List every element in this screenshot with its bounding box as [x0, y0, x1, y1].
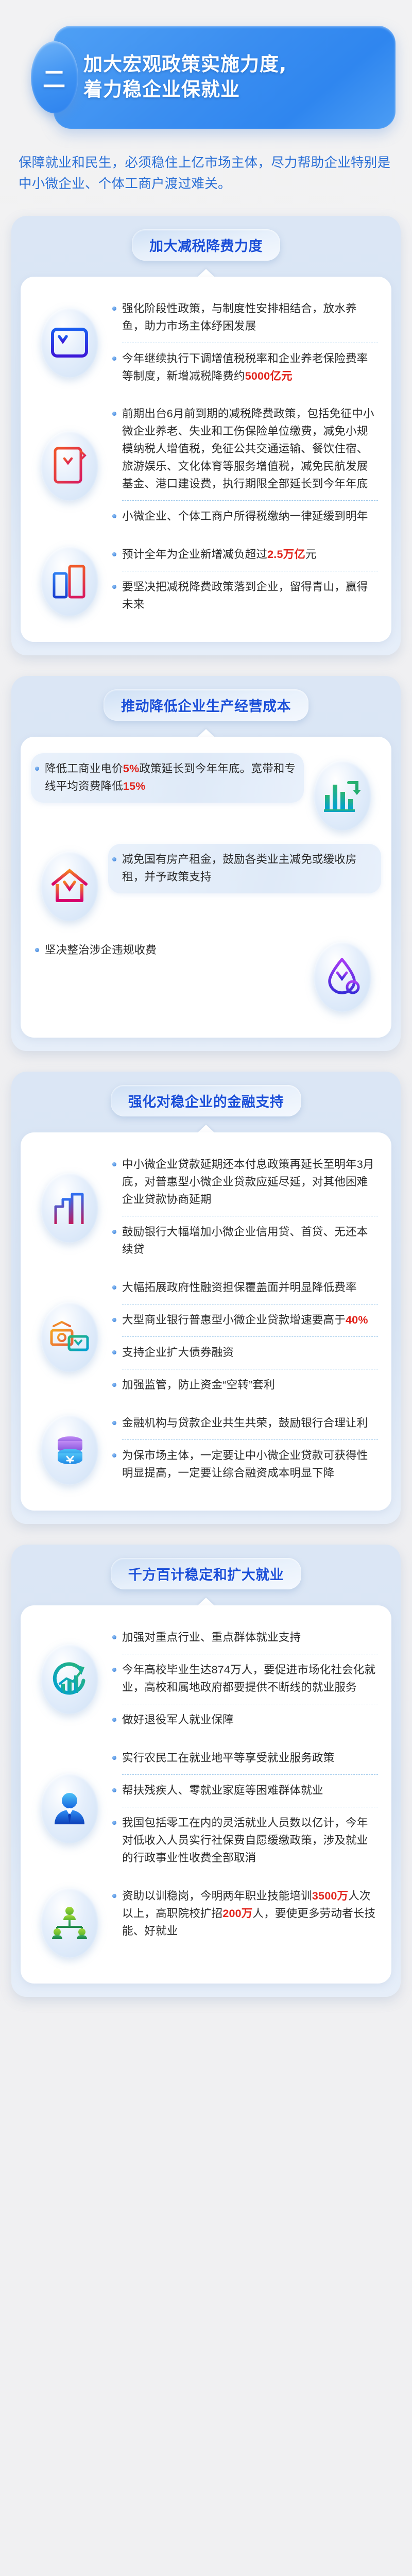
- list-item: 坚决整治涉企违规收费: [34, 937, 301, 964]
- training-network-icon: [41, 1888, 98, 1958]
- highlight-value: 3500万: [312, 1890, 348, 1902]
- list-item-text: 中小微企业贷款延期还本付息政策再延长至明年3月底，对普惠型小微企业贷款应延尽延，…: [122, 1156, 378, 1209]
- plain-text: 大幅拓展政府性融资担保覆盖面并明显降低费率: [122, 1281, 357, 1294]
- list-item: 帮扶残疾人、零就业家庭等困难群体就业: [111, 1777, 378, 1805]
- list-item-text: 金融机构与贷款企业共生共荣，鼓励银行合理让利: [122, 1415, 378, 1432]
- bullet-dot-icon: [112, 1821, 116, 1825]
- bullet-dot-icon: [112, 1230, 116, 1234]
- money-exchange-icon: [41, 1302, 98, 1372]
- bullet-dot-icon: [112, 857, 116, 861]
- bullet-list: 金融机构与贷款企业共生共荣，鼓励银行合理让利为保市场主体，一定要让中小微企业贷款…: [108, 1408, 381, 1489]
- bullet-divider: [122, 1439, 378, 1440]
- bullet-list: 降低工商业电价5%政策延长到今年年底。宽带和专线平均资费降低15%: [31, 753, 304, 803]
- highlight-value: 40%: [346, 1314, 368, 1326]
- list-item: 金融机构与贷款企业共生共荣，鼓励银行合理让利: [111, 1410, 378, 1437]
- list-item-text: 预计全年为企业新增减负超过2.5万亿元: [122, 546, 378, 564]
- bullet-divider: [122, 1216, 378, 1216]
- content-row: 预计全年为企业新增减负超过2.5万亿元要坚决把减税降费政策落到企业，留得青山，赢…: [31, 536, 381, 626]
- list-item-text: 资助以训稳岗，今明两年职业技能培训3500万人次以上，高职院校扩招200万人，要…: [122, 1888, 378, 1940]
- list-item-text: 帮扶残疾人、零就业家庭等困难群体就业: [122, 1782, 378, 1800]
- plain-text: 资助以训稳岗，今明两年职业技能培训: [122, 1890, 312, 1902]
- list-item: 预计全年为企业新增减负超过2.5万亿元: [111, 541, 378, 569]
- list-item: 今年高校毕业生达874万人，要促进市场化社会化就业，高校和属地政府都要提供不断线…: [111, 1656, 378, 1702]
- bullet-list: 资助以训稳岗，今明两年职业技能培训3500万人次以上，高职院校扩招200万人，要…: [108, 1880, 381, 1947]
- bullet-divider: [122, 1654, 378, 1654]
- bullet-dot-icon: [112, 1453, 116, 1458]
- fee-drop-icon: [314, 942, 371, 1012]
- content-row: 资助以训稳岗，今明两年职业技能培训3500万人次以上，高职院校扩招200万人，要…: [31, 1877, 381, 1968]
- list-item: 减免国有房产租金，鼓励各类业主减免或缓收房租，并予政策支持: [111, 846, 378, 891]
- list-item-text: 小微企业、个体工商户所得税缴纳一律延缓到明年: [122, 508, 378, 526]
- icon-container: [31, 539, 108, 623]
- list-item: 大型商业银行普惠型小微企业贷款增速要高于40%: [111, 1307, 378, 1334]
- icon-container: [31, 1766, 108, 1851]
- plain-text: 支持企业扩大债券融资: [122, 1346, 234, 1359]
- list-item: 降低工商业电价5%政策延长到今年年底。宽带和专线平均资费降低15%: [34, 755, 301, 801]
- highlight-value: 5000亿元: [245, 370, 293, 382]
- icon-container: [304, 753, 381, 838]
- list-item: 鼓励银行大幅增加小微企业信用贷、首贷、无还本续贷: [111, 1218, 378, 1264]
- plain-text: 做好退役军人就业保障: [122, 1714, 234, 1726]
- highlight-value: 5%: [123, 762, 139, 775]
- section-title: 加大减税降费力度: [132, 229, 280, 261]
- page-title-line1: 加大宏观政策实施力度,: [83, 52, 287, 77]
- policy-section: 强化对稳企业的金融支持 中小微企业贷款延期还本付息政策再延长至明年3月底，对普惠…: [11, 1072, 401, 1524]
- bullet-divider: [122, 500, 378, 501]
- buildings-icon: [41, 546, 98, 616]
- list-item: 资助以训稳岗，今明两年职业技能培训3500万人次以上，高职院校扩招200万人，要…: [111, 1883, 378, 1945]
- highlight-value: 2.5万亿: [267, 548, 305, 561]
- section-title: 强化对稳企业的金融支持: [111, 1085, 302, 1116]
- list-item-text: 鼓励银行大幅增加小微企业信用贷、首贷、无还本续贷: [122, 1224, 378, 1259]
- plain-text: 加强对重点行业、重点群体就业支持: [122, 1631, 301, 1643]
- bullet-dot-icon: [35, 948, 39, 952]
- section-title: 推动降低企业生产经营成本: [104, 689, 308, 721]
- bullet-list: 加强对重点行业、重点群体就业支持今年高校毕业生达874万人，要促进市场化社会化就…: [108, 1622, 381, 1736]
- bullet-list: 坚决整治涉企违规收费: [31, 935, 304, 967]
- list-item: 小微企业、个体工商户所得税缴纳一律延缓到明年: [111, 503, 378, 531]
- list-item-text: 要坚决把减税降费政策落到企业，留得青山，赢得未来: [122, 579, 378, 614]
- list-item-text: 加强监管，防止资金“空转”套利: [122, 1377, 378, 1394]
- bullet-dot-icon: [112, 1788, 116, 1792]
- page-title-line2: 着力稳企业保就业: [83, 77, 287, 103]
- bullet-divider: [122, 1336, 378, 1337]
- bullet-dot-icon: [112, 307, 116, 311]
- icon-container: [31, 1637, 108, 1721]
- infographic-page: 加大宏观政策实施力度, 着力稳企业保就业 二 保障就业和民生，必须稳住上亿市场主…: [0, 0, 412, 2576]
- list-item: 加强对重点行业、重点群体就业支持: [111, 1624, 378, 1652]
- bullet-dot-icon: [112, 1350, 116, 1354]
- plain-text: 前期出台6月前到期的减税降费政策，包括免征中小微企业养老、失业和工伤保险单位缴费…: [122, 408, 374, 490]
- card-notch: [197, 1125, 215, 1133]
- list-item-text: 加强对重点行业、重点群体就业支持: [122, 1629, 378, 1647]
- plain-text: 加强监管，防止资金“空转”套利: [122, 1379, 275, 1391]
- section-title: 千方百计稳定和扩大就业: [111, 1558, 302, 1589]
- page-header: 加大宏观政策实施力度, 着力稳企业保就业 二: [11, 14, 401, 143]
- plain-text: 鼓励银行大幅增加小微企业信用贷、首贷、无还本续贷: [122, 1226, 368, 1256]
- list-item-text: 减免国有房产租金，鼓励各类业主减免或缓收房租，并予政策支持: [122, 851, 378, 886]
- list-item-text: 实行农民工在就业地平等享受就业服务政策: [122, 1750, 378, 1767]
- house-rent-icon: [41, 851, 98, 921]
- bullet-dot-icon: [112, 585, 116, 589]
- plain-text: 金融机构与贷款企业共生共荣，鼓励银行合理让利: [122, 1417, 368, 1429]
- plain-text: 为保市场主体，一定要让中小微企业贷款可获得性明显提高，一定要让综合融资成本明显下…: [122, 1449, 368, 1479]
- list-item: 我国包括零工在内的灵活就业人员数以亿计，今年对低收入人员实行社保费自愿缓缴政策，…: [111, 1809, 378, 1872]
- bullet-list: 前期出台6月前到期的减税降费政策，包括免征中小微企业养老、失业和工伤保险单位缴费…: [108, 398, 381, 533]
- worker-person-icon: [41, 1773, 98, 1843]
- content-row: 大幅拓展政府性融资担保覆盖面并明显降低费率大型商业银行普惠型小微企业贷款增速要高…: [31, 1269, 381, 1404]
- lede-paragraph: 保障就业和民生，必须稳住上亿市场主体，尽力帮助企业特别是中小微企业、个体工商户渡…: [19, 152, 393, 195]
- policy-section: 推动降低企业生产经营成本 降低工商业电价5%政策延长到今年年底。宽带和专线平均资…: [11, 676, 401, 1051]
- section-number-badge: 二: [31, 41, 78, 113]
- plain-text: 小微企业、个体工商户所得税缴纳一律延缓到明年: [122, 510, 368, 522]
- section-number-label: 二: [43, 61, 66, 94]
- content-row: 强化阶段性政策，与制度性安排相结合，放水养鱼，助力市场主体纾困发展今年继续执行下…: [31, 290, 381, 396]
- tax-document-icon: [41, 431, 98, 501]
- list-item-text: 大型商业银行普惠型小微企业贷款增速要高于40%: [122, 1312, 378, 1329]
- declining-bar-chart-icon: [314, 760, 371, 831]
- list-item-text: 为保市场主体，一定要让中小微企业贷款可获得性明显提高，一定要让综合融资成本明显下…: [122, 1447, 378, 1482]
- plain-text: 大型商业银行普惠型小微企业贷款增速要高于: [122, 1314, 346, 1326]
- icon-container: [304, 935, 381, 1019]
- coin-stack-icon: [41, 1415, 98, 1485]
- bullet-dot-icon: [112, 1285, 116, 1290]
- list-item: 今年继续执行下调增值税税率和企业养老保险费率等制度，新增减税降费约5000亿元: [111, 345, 378, 391]
- card-notch: [197, 269, 215, 277]
- bullet-divider: [122, 343, 378, 343]
- content-row: 中小微企业贷款延期还本付息政策再延长至明年3月底，对普惠型小微企业贷款应延尽延，…: [31, 1146, 381, 1269]
- list-item: 大幅拓展政府性融资担保覆盖面并明显降低费率: [111, 1274, 378, 1302]
- bullet-dot-icon: [112, 412, 116, 416]
- icon-container: [31, 423, 108, 508]
- bullet-divider: [122, 571, 378, 571]
- list-item-text: 今年高校毕业生达874万人，要促进市场化社会化就业，高校和属地政府都要提供不断线…: [122, 1662, 378, 1697]
- bullet-divider: [122, 1704, 378, 1704]
- highlight-value: 200万: [222, 1907, 252, 1920]
- list-item-text: 降低工商业电价5%政策延长到今年年底。宽带和专线平均资费降低15%: [45, 760, 301, 795]
- bullet-dot-icon: [112, 1421, 116, 1425]
- list-item: 支持企业扩大债券融资: [111, 1339, 378, 1367]
- list-item: 前期出台6月前到期的减税降费政策，包括免征中小微企业养老、失业和工伤保险单位缴费…: [111, 400, 378, 498]
- bullet-list: 强化阶段性政策，与制度性安排相结合，放水养鱼，助力市场主体纾困发展今年继续执行下…: [108, 293, 381, 393]
- bullet-dot-icon: [112, 1894, 116, 1898]
- list-item-text: 我国包括零工在内的灵活就业人员数以亿计，今年对低收入人员实行社保费自愿缓缴政策，…: [122, 1815, 378, 1867]
- list-item-text: 今年继续执行下调增值税税率和企业养老保险费率等制度，新增减税降费约5000亿元: [122, 350, 378, 385]
- section-card: 强化阶段性政策，与制度性安排相结合，放水养鱼，助力市场主体纾困发展今年继续执行下…: [21, 277, 391, 642]
- card-notch: [197, 729, 215, 737]
- bullet-dot-icon: [112, 514, 116, 518]
- plain-text: 强化阶段性政策，与制度性安排相结合，放水养鱼，助力市场主体纾困发展: [122, 302, 357, 332]
- bullet-list: 实行农民工在就业地平等享受就业服务政策帮扶残疾人、零就业家庭等困难群体就业我国包…: [108, 1742, 381, 1874]
- icon-container: [31, 844, 108, 928]
- icon-container: [31, 300, 108, 385]
- bullet-list: 预计全年为企业新增减负超过2.5万亿元要坚决把减税降费政策落到企业，留得青山，赢…: [108, 539, 381, 621]
- content-row: 加强对重点行业、重点群体就业支持今年高校毕业生达874万人，要促进市场化社会化就…: [31, 1619, 381, 1739]
- sections-container: 加大减税降费力度 强化阶段性政策，与制度性安排相结合，放水养鱼，助力市场主体纾困…: [0, 216, 412, 1997]
- content-row: 实行农民工在就业地平等享受就业服务政策帮扶残疾人、零就业家庭等困难群体就业我国包…: [31, 1739, 381, 1877]
- bullet-dot-icon: [112, 1756, 116, 1760]
- plain-text: 帮扶残疾人、零就业家庭等困难群体就业: [122, 1784, 323, 1797]
- content-row: 金融机构与贷款企业共生共荣，鼓励银行合理让利为保市场主体，一定要让中小微企业贷款…: [31, 1404, 381, 1495]
- growth-chart-icon: [41, 1644, 98, 1714]
- icon-container: [31, 1165, 108, 1250]
- plain-text: 元: [305, 548, 317, 561]
- bullet-divider: [122, 1304, 378, 1304]
- bullet-dot-icon: [112, 1635, 116, 1639]
- plain-text: 减免国有房产租金，鼓励各类业主减免或缓收房租，并予政策支持: [122, 853, 357, 883]
- content-row: 前期出台6月前到期的减税降费政策，包括免征中小微企业养老、失业和工伤保险单位缴费…: [31, 395, 381, 536]
- list-item: 中小微企业贷款延期还本付息政策再延长至明年3月底，对普惠型小微企业贷款应延尽延，…: [111, 1151, 378, 1214]
- list-item-text: 大幅拓展政府性融资担保覆盖面并明显降低费率: [122, 1279, 378, 1297]
- plain-text: 要坚决把减税降费政策落到企业，留得青山，赢得未来: [122, 581, 368, 611]
- list-item-text: 前期出台6月前到期的减税降费政策，包括免征中小微企业养老、失业和工伤保险单位缴费…: [122, 405, 378, 493]
- content-row: 减免国有房产租金，鼓励各类业主减免或缓收房租，并予政策支持: [31, 841, 381, 931]
- plain-text: 今年高校毕业生达874万人，要促进市场化社会化就业，高校和属地政府都要提供不断线…: [122, 1664, 375, 1693]
- bullet-divider: [122, 1774, 378, 1775]
- plain-text: 预计全年为企业新增减负超过: [122, 548, 267, 561]
- bullet-dot-icon: [112, 1162, 116, 1166]
- bullet-dot-icon: [112, 1383, 116, 1387]
- bullet-dot-icon: [112, 1668, 116, 1672]
- list-item-text: 坚决整治涉企违规收费: [45, 942, 301, 959]
- list-item: 要坚决把减税降费政策落到企业，留得青山，赢得未来: [111, 573, 378, 619]
- bank-buildings-icon: [41, 1173, 98, 1243]
- list-item-text: 强化阶段性政策，与制度性安排相结合，放水养鱼，助力市场主体纾困发展: [122, 300, 378, 335]
- bullet-list: 大幅拓展政府性融资担保覆盖面并明显降低费率大型商业银行普惠型小微企业贷款增速要高…: [108, 1272, 381, 1401]
- header-banner: 加大宏观政策实施力度, 着力稳企业保就业: [54, 26, 396, 129]
- section-card: 降低工商业电价5%政策延长到今年年底。宽带和专线平均资费降低15% 减免国有房产…: [21, 737, 391, 1038]
- list-item-text: 做好退役军人就业保障: [122, 1711, 378, 1729]
- page-title: 加大宏观政策实施力度, 着力稳企业保就业: [83, 52, 287, 103]
- bullet-dot-icon: [35, 767, 39, 771]
- list-item: 做好退役军人就业保障: [111, 1706, 378, 1734]
- policy-section: 加大减税降费力度 强化阶段性政策，与制度性安排相结合，放水养鱼，助力市场主体纾困…: [11, 216, 401, 656]
- plain-text: 实行农民工在就业地平等享受就业服务政策: [122, 1752, 334, 1764]
- policy-section: 千方百计稳定和扩大就业 加强对重点行业、重点群体就业支持今年高校毕业生达874万…: [11, 1545, 401, 1997]
- plain-text: 中小微企业贷款延期还本付息政策再延长至明年3月底，对普惠型小微企业贷款应延尽延，…: [122, 1158, 374, 1206]
- list-item: 为保市场主体，一定要让中小微企业贷款可获得性明显提高，一定要让综合融资成本明显下…: [111, 1442, 378, 1487]
- content-row: 坚决整治涉企违规收费: [31, 931, 381, 1022]
- highlight-value: 15%: [123, 780, 146, 792]
- section-card: 中小微企业贷款延期还本付息政策再延长至明年3月底，对普惠型小微企业贷款应延尽延，…: [21, 1132, 391, 1511]
- bullet-dot-icon: [112, 1718, 116, 1722]
- list-item: 实行农民工在就业地平等享受就业服务政策: [111, 1744, 378, 1772]
- list-item: 强化阶段性政策，与制度性安排相结合，放水养鱼，助力市场主体纾困发展: [111, 295, 378, 341]
- bullet-divider: [122, 1369, 378, 1369]
- plain-text: 降低工商业电价: [45, 762, 123, 775]
- card-notch: [197, 1598, 215, 1606]
- bullet-divider: [122, 1807, 378, 1807]
- plain-text: 我国包括零工在内的灵活就业人员数以亿计，今年对低收入人员实行社保费自愿缓缴政策，…: [122, 1817, 368, 1864]
- content-row: 降低工商业电价5%政策延长到今年年底。宽带和专线平均资费降低15%: [31, 750, 381, 841]
- list-item: 加强监管，防止资金“空转”套利: [111, 1371, 378, 1399]
- icon-container: [31, 1880, 108, 1965]
- bullet-list: 中小微企业贷款延期还本付息政策再延长至明年3月底，对普惠型小微企业贷款应延尽延，…: [108, 1149, 381, 1266]
- list-item-text: 支持企业扩大债券融资: [122, 1344, 378, 1362]
- bullet-dot-icon: [112, 357, 116, 361]
- icon-container: [31, 1408, 108, 1492]
- icon-container: [31, 1295, 108, 1379]
- plain-text: 坚决整治涉企违规收费: [45, 944, 157, 956]
- section-card: 加强对重点行业、重点群体就业支持今年高校毕业生达874万人，要促进市场化社会化就…: [21, 1605, 391, 1984]
- bullet-dot-icon: [112, 1318, 116, 1322]
- tax-calculator-icon: [41, 308, 98, 378]
- bullet-list: 减免国有房产租金，鼓励各类业主减免或缓收房租，并予政策支持: [108, 844, 381, 893]
- bullet-dot-icon: [112, 552, 116, 556]
